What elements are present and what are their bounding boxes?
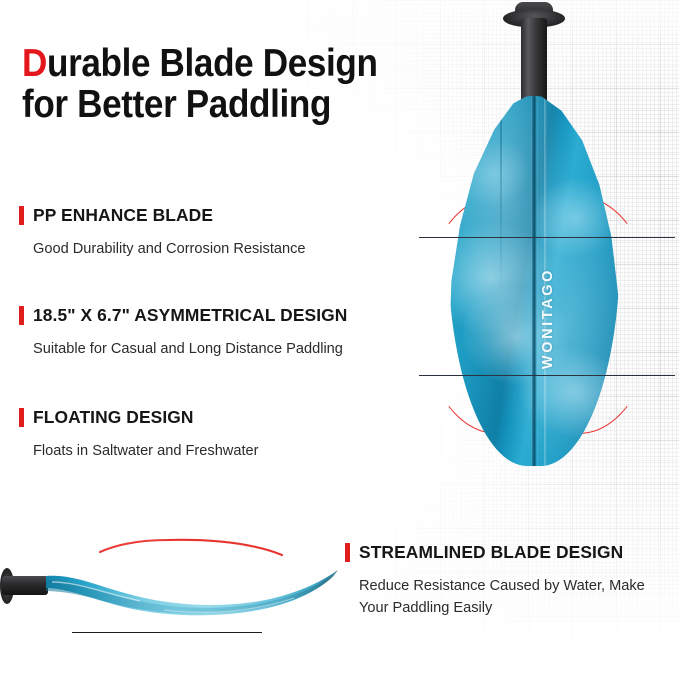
paddle-blade-profile-shape xyxy=(44,562,340,622)
title-line-1: urable Blade Design xyxy=(47,42,378,85)
feature-item-floating-design: FLOATING DESIGN Floats in Saltwater and … xyxy=(19,407,259,462)
title-line-2: for Better Paddling xyxy=(22,84,382,125)
paddle-ferrule-side xyxy=(2,576,48,595)
feature-subtitle: Reduce Resistance Caused by Water, Make … xyxy=(359,575,659,619)
feature-title: FLOATING DESIGN xyxy=(33,407,194,428)
page-title: Durable Blade Design for Better Paddling xyxy=(22,43,382,126)
paddle-blade-side-view xyxy=(0,528,350,648)
red-bar-marker-icon xyxy=(19,306,24,325)
feature-heading-row: FLOATING DESIGN xyxy=(19,407,259,428)
title-drop-cap: D xyxy=(22,42,47,85)
blade-swirl-texture xyxy=(525,172,620,265)
feature-title: STREAMLINED BLADE DESIGN xyxy=(359,542,623,563)
blade-width-measure-bottom xyxy=(419,375,675,376)
flat-reference-baseline xyxy=(72,632,262,633)
blade-rib-line xyxy=(500,103,502,295)
paddle-blade-front-view: WONITAGO xyxy=(395,0,679,500)
brand-label: WONITAGO xyxy=(540,268,556,369)
paddle-shaft xyxy=(521,18,547,104)
feature-item-streamlined-blade-design: STREAMLINED BLADE DESIGN Reduce Resistan… xyxy=(345,542,659,619)
red-bar-marker-icon xyxy=(19,408,24,427)
blade-swirl-texture xyxy=(448,129,540,219)
blade-width-measure-top xyxy=(419,237,675,238)
blade-swirl-texture xyxy=(454,280,576,393)
feature-heading-row: 18.5" X 6.7" ASYMMETRICAL DESIGN xyxy=(19,305,347,326)
feature-subtitle: Floats in Saltwater and Freshwater xyxy=(33,440,259,462)
blade-center-spine xyxy=(531,96,538,466)
feature-item-asymmetrical-design: 18.5" X 6.7" ASYMMETRICAL DESIGN Suitabl… xyxy=(19,305,347,360)
red-bar-marker-icon xyxy=(19,206,24,225)
feature-heading-row: PP ENHANCE BLADE xyxy=(19,205,306,226)
feature-title: 18.5" X 6.7" ASYMMETRICAL DESIGN xyxy=(33,305,347,326)
infographic-canvas: Durable Blade Design for Better Paddling… xyxy=(0,0,679,679)
feature-item-pp-enhance-blade: PP ENHANCE BLADE Good Durability and Cor… xyxy=(19,205,306,260)
feature-subtitle: Good Durability and Corrosion Resistance xyxy=(33,238,306,260)
feature-heading-row: STREAMLINED BLADE DESIGN xyxy=(345,542,659,563)
feature-title: PP ENHANCE BLADE xyxy=(33,205,213,226)
feature-subtitle: Suitable for Casual and Long Distance Pa… xyxy=(33,338,347,360)
